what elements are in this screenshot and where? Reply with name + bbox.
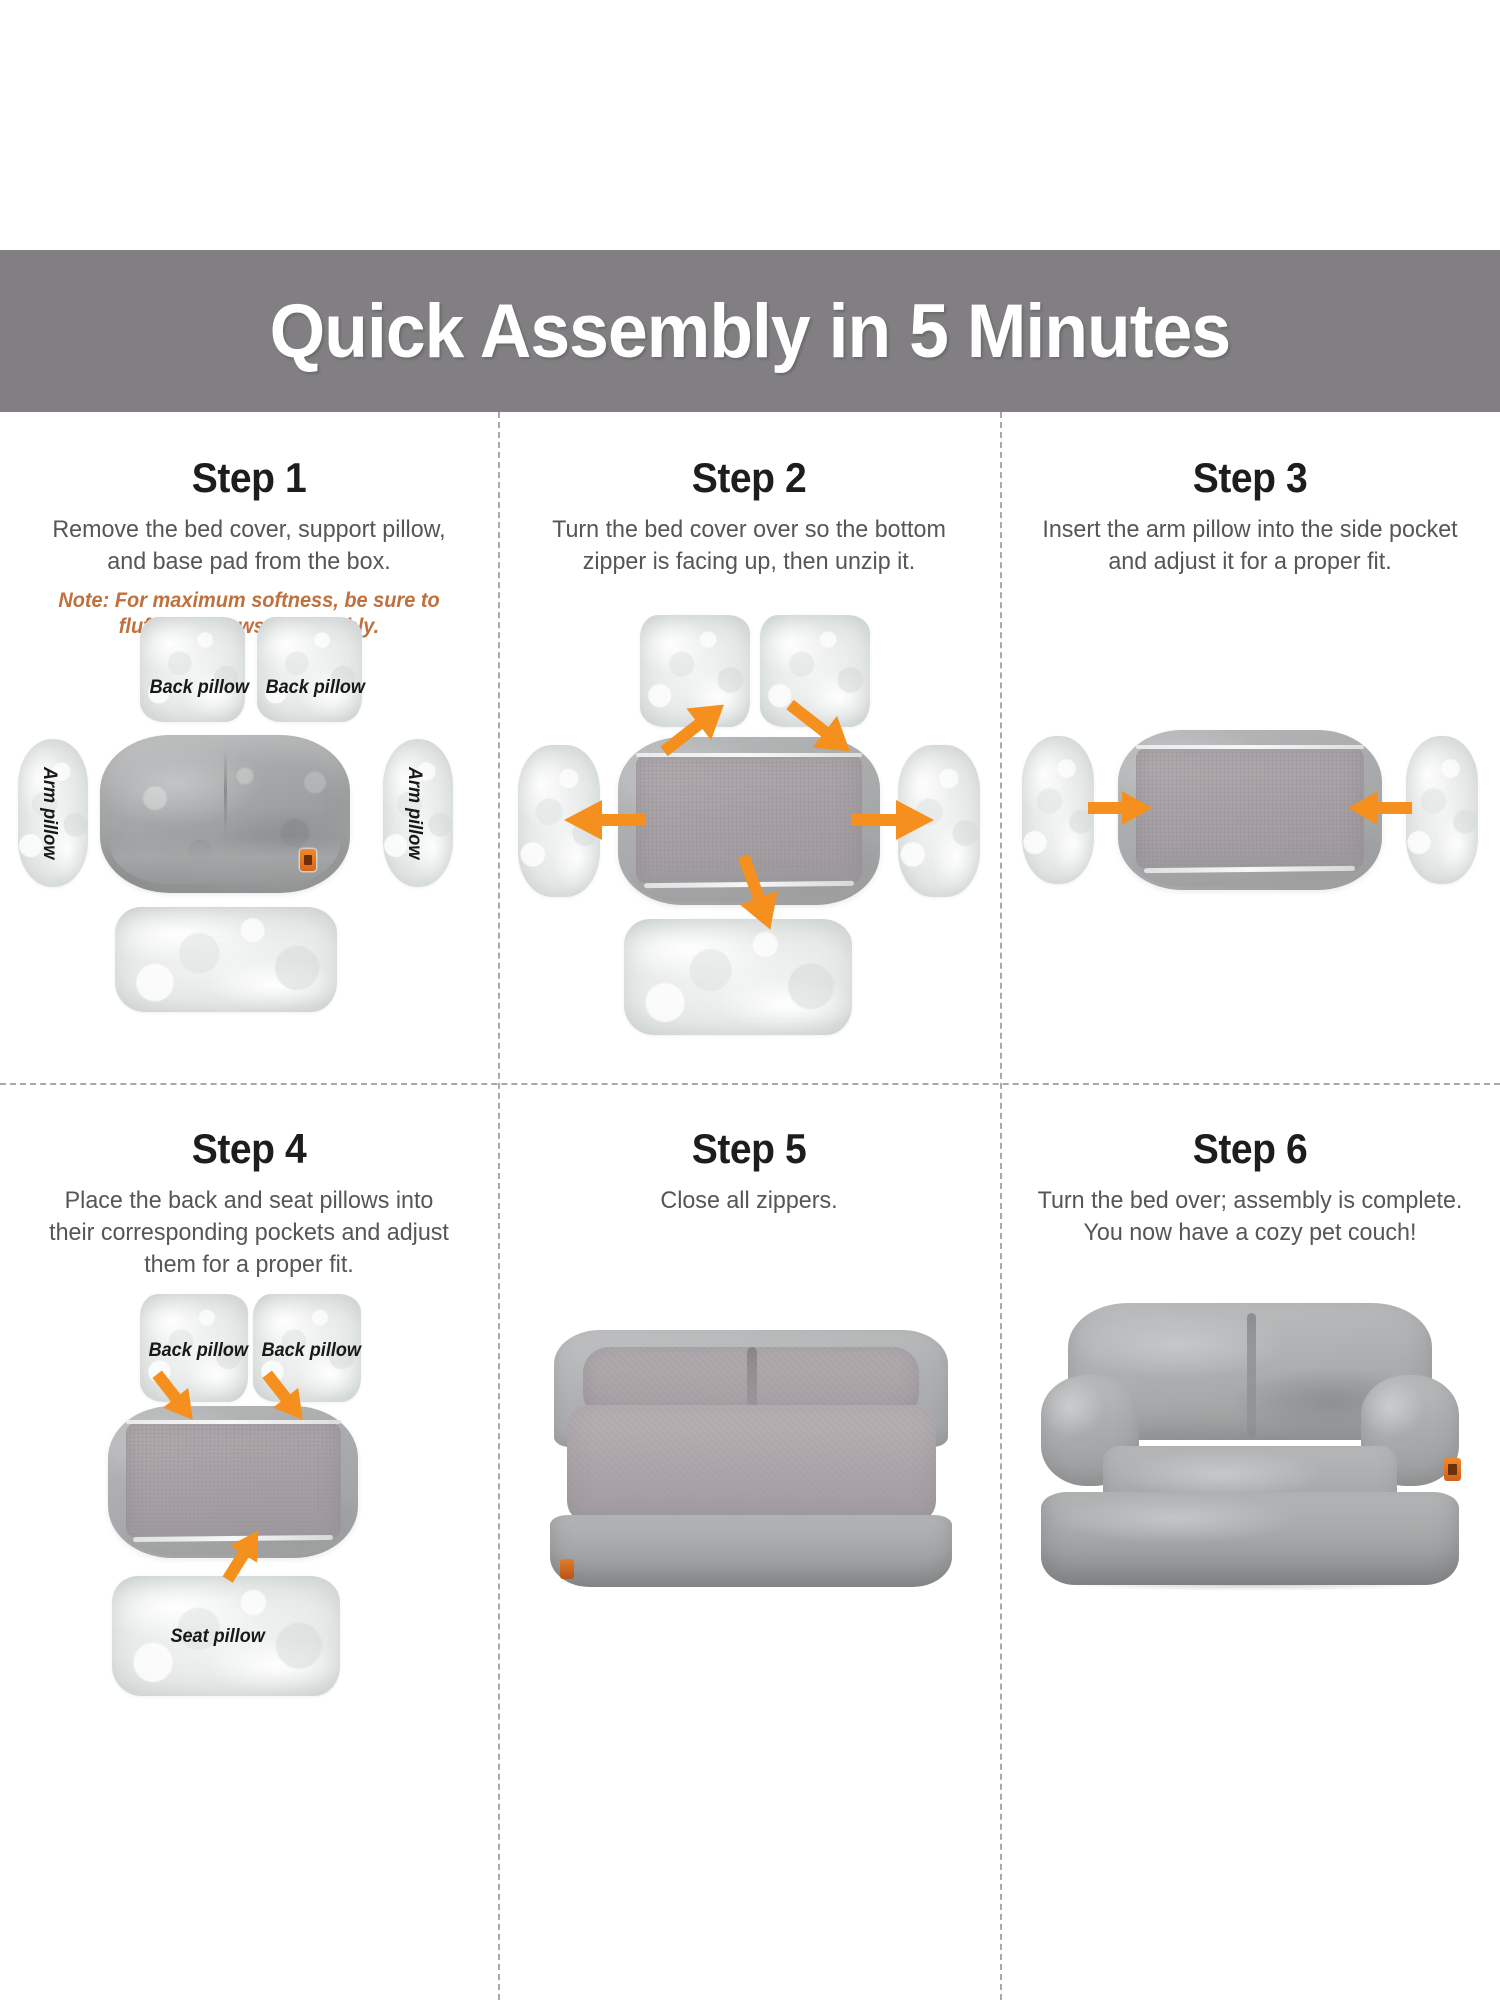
back-pillow-left [140, 617, 245, 722]
steps-grid: Step 1 Remove the bed cover, support pil… [0, 412, 1500, 2000]
arrow-right-icon [850, 799, 938, 841]
bed-seat [567, 1405, 936, 1523]
step-2-illustration [498, 597, 1000, 1047]
arm-pillow-left-label: Arm pillow [38, 767, 60, 859]
step-3-title: Step 3 [1018, 454, 1483, 502]
step-4-description: Place the back and seat pillows into the… [40, 1185, 458, 1281]
back-pillow-right-label: Back pillow [266, 677, 365, 699]
step-2-title: Step 2 [516, 454, 983, 502]
base-pad [115, 907, 337, 1012]
step-2-description: Turn the bed cover over so the bottom zi… [535, 514, 963, 578]
couch-base [1041, 1492, 1458, 1585]
header-band: Quick Assembly in 5 Minutes [0, 250, 1500, 412]
couch-shadow [1064, 1579, 1437, 1591]
finished-pet-couch [1028, 1297, 1472, 1607]
step-card-4: Step 4 Place the back and seat pillows i… [0, 1083, 498, 2000]
step-6-illustration [1000, 1283, 1500, 1643]
bed-cover [100, 735, 350, 893]
step-4-title: Step 4 [17, 1125, 480, 1173]
step-3-description: Insert the arm pillow into the side pock… [1027, 514, 1474, 578]
arrow-left-icon [560, 799, 648, 841]
back-pillow-left-label: Back pillow [150, 677, 249, 699]
step-5-title: Step 5 [516, 1125, 983, 1173]
arm-pillow-right-label: Arm pillow [403, 767, 425, 859]
step-1-title: Step 1 [17, 454, 480, 502]
step-5-description: Close all zippers. [535, 1185, 963, 1217]
step-card-1: Step 1 Remove the bed cover, support pil… [0, 412, 498, 1083]
back-pillow-right-label: Back pillow [262, 1340, 361, 1362]
page-title: Quick Assembly in 5 Minutes [270, 288, 1231, 375]
step-4-illustration: Back pillow Back pillow Seat pillow [0, 1288, 498, 1728]
couch-back-seam [1247, 1313, 1256, 1437]
arm-pillow-right [1406, 736, 1478, 884]
bed-cover-inverted [108, 1406, 358, 1558]
step-card-3: Step 3 Insert the arm pillow into the si… [1000, 412, 1500, 1083]
bed-cover-inverted [1118, 730, 1382, 890]
step-1-description: Remove the bed cover, support pillow, an… [40, 514, 458, 578]
cover-liner [1136, 748, 1363, 870]
back-pillow-right [257, 617, 362, 722]
brand-tag-icon [560, 1559, 574, 1579]
top-zipper [126, 1420, 341, 1424]
step-1-illustration: Back pillow Back pillow Arm pillow Arm p… [0, 617, 498, 1037]
base-pad [624, 919, 852, 1035]
top-zipper [1136, 745, 1363, 749]
step-6-description: Turn the bed over; assembly is complete.… [1027, 1185, 1474, 1249]
step-card-6: Step 6 Turn the bed over; assembly is co… [1000, 1083, 1500, 2000]
arrow-right-insert-icon [1086, 790, 1154, 826]
arrow-left-insert-icon [1346, 790, 1414, 826]
bed-base [550, 1515, 952, 1588]
step-5-illustration [498, 1293, 1000, 1623]
cover-seam [224, 748, 227, 837]
brand-tag-icon [1444, 1458, 1461, 1481]
cover-liner [126, 1423, 341, 1539]
step-3-illustration [1000, 702, 1500, 942]
step-card-2: Step 2 Turn the bed cover over so the bo… [498, 412, 1000, 1083]
closed-bed [546, 1313, 956, 1593]
back-pillow-left-label: Back pillow [149, 1340, 248, 1362]
step-6-title: Step 6 [1018, 1125, 1483, 1173]
arm-pillow-left [1022, 736, 1094, 884]
step-card-5: Step 5 Close all zippers. [498, 1083, 1000, 2000]
brand-tag-icon [300, 849, 316, 871]
seat-pillow-label: Seat pillow [170, 1626, 264, 1648]
